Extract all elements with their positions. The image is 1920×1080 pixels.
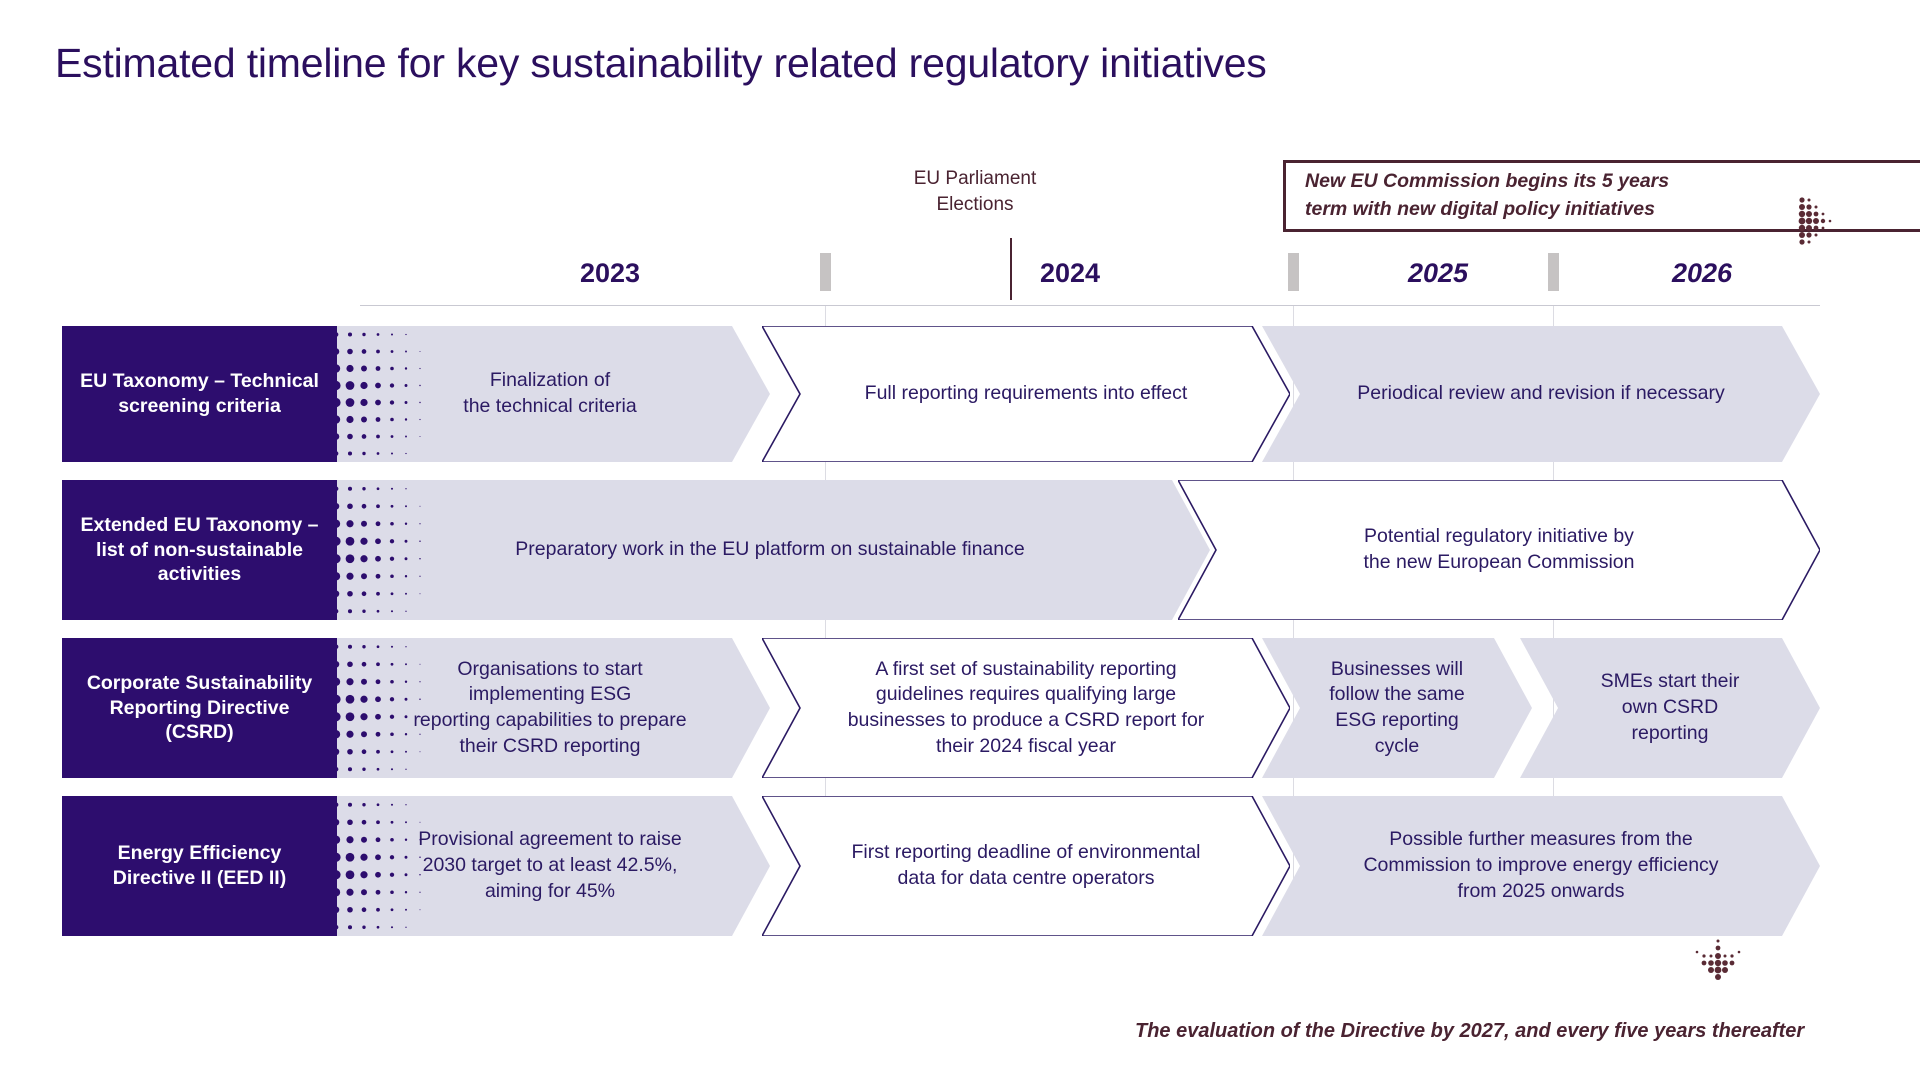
dotted-arrow-down-icon — [1690, 938, 1746, 989]
row-label-eed-ii[interactable]: Energy Efficiency Directive II (EED II) — [62, 796, 337, 936]
timeline-segment-eed-ii-0[interactable]: Provisional agreement to raise2030 targe… — [330, 796, 770, 936]
timeline-segment-csrd-2[interactable]: Businesses willfollow the sameESG report… — [1262, 638, 1532, 778]
timeline-segment-text: Periodical review and revision if necess… — [1317, 381, 1764, 407]
timeline-segment-eu-taxonomy-technical-screening-2[interactable]: Periodical review and revision if necess… — [1262, 326, 1820, 462]
year-label-2025: 2025 — [1368, 258, 1508, 289]
row-label-eu-taxonomy-technical-screening[interactable]: EU Taxonomy – Technical screening criter… — [62, 326, 337, 462]
elections-annotation: EU Parliament Elections — [855, 166, 1095, 217]
timeline-segment-text: Businesses willfollow the sameESG report… — [1289, 657, 1504, 760]
timeline-segment-text: Finalization ofthe technical criteria — [423, 368, 676, 419]
timeline-segment-text: Possible further measures from theCommis… — [1323, 827, 1758, 904]
row-label-csrd[interactable]: Corporate Sustainability Reporting Direc… — [62, 638, 337, 778]
timeline-axis-line — [360, 305, 1820, 306]
timeline-segment-eu-taxonomy-technical-screening-0[interactable]: Finalization ofthe technical criteria — [330, 326, 770, 462]
timeline-segment-text: A first set of sustainability reportingg… — [808, 657, 1245, 760]
timeline-segment-extended-eu-taxonomy-0[interactable]: Preparatory work in the EU platform on s… — [330, 480, 1210, 620]
timeline-segment-text: Full reporting requirements into effect — [825, 381, 1228, 407]
timeline-segment-text: First reporting deadline of environmenta… — [811, 840, 1240, 891]
year-tick-2 — [1548, 253, 1559, 291]
timeline-segment-extended-eu-taxonomy-1[interactable]: Potential regulatory initiative bythe ne… — [1178, 480, 1820, 620]
year-label-2024: 2024 — [1000, 258, 1140, 289]
timeline-segment-text: SMEs start theirown CSRDreporting — [1561, 669, 1780, 746]
elections-annotation-line2: Elections — [855, 192, 1095, 218]
year-label-2026: 2026 — [1632, 258, 1772, 289]
footnote-text: The evaluation of the Directive by 2027,… — [1135, 1020, 1804, 1043]
timeline-segment-eed-ii-1[interactable]: First reporting deadline of environmenta… — [762, 796, 1290, 936]
timeline-segment-text: Provisional agreement to raise2030 targe… — [378, 827, 721, 904]
commission-annotation-line1: New EU Commission begins its 5 years — [1305, 168, 1920, 196]
year-label-2023: 2023 — [540, 258, 680, 289]
timeline-segment-eed-ii-2[interactable]: Possible further measures from theCommis… — [1262, 796, 1820, 936]
timeline-segment-text: Organisations to startimplementing ESGre… — [373, 657, 726, 760]
row-label-extended-eu-taxonomy[interactable]: Extended EU Taxonomy – list of non-susta… — [62, 480, 337, 620]
timeline-segment-csrd-1[interactable]: A first set of sustainability reportingg… — [762, 638, 1290, 778]
timeline-segment-text: Potential regulatory initiative bythe ne… — [1324, 524, 1675, 575]
elections-annotation-line1: EU Parliament — [855, 166, 1095, 192]
timeline-segment-eu-taxonomy-technical-screening-1[interactable]: Full reporting requirements into effect — [762, 326, 1290, 462]
year-tick-1 — [1288, 253, 1299, 291]
timeline-segment-csrd-3[interactable]: SMEs start theirown CSRDreporting — [1520, 638, 1820, 778]
dotted-arrow-right-icon — [1798, 194, 1838, 255]
timeline-segment-csrd-0[interactable]: Organisations to startimplementing ESGre… — [330, 638, 770, 778]
year-tick-0 — [820, 253, 831, 291]
timeline-segment-text: Preparatory work in the EU platform on s… — [475, 537, 1064, 563]
